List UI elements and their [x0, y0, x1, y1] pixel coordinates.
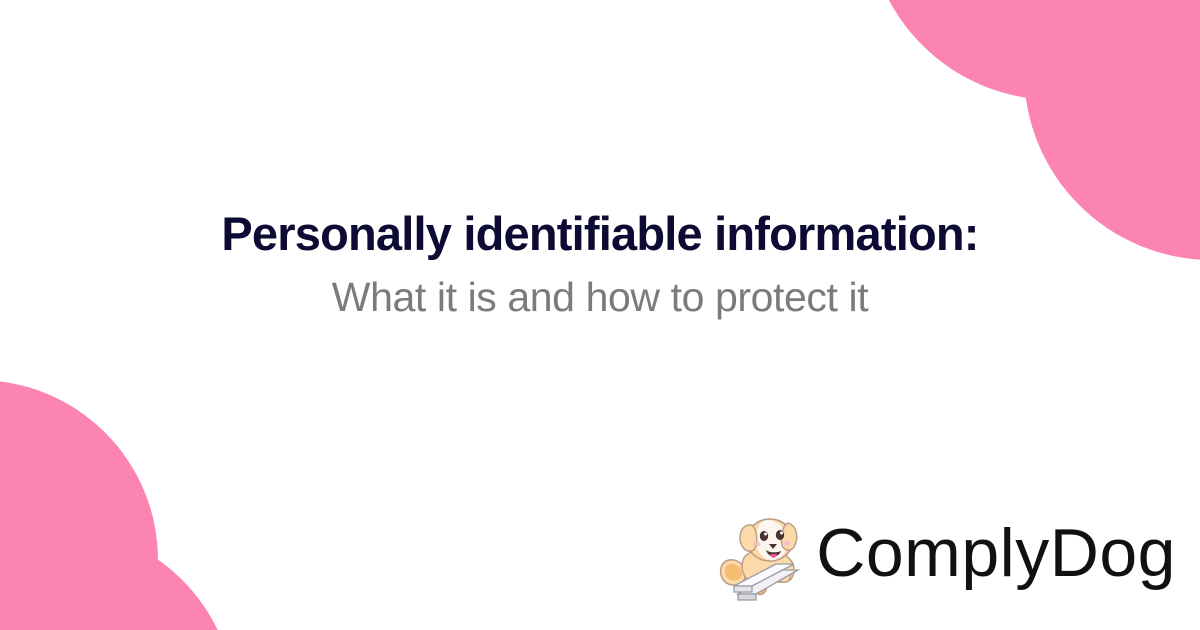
og-card: Personally identifiable information: Wha…: [0, 0, 1200, 630]
brand-wordmark: ComplyDog: [816, 519, 1176, 593]
dog-mascot-with-documents-icon: [714, 508, 810, 604]
brand-logo-lockup[interactable]: ComplyDog: [714, 508, 1176, 604]
page-title: Personally identifiable information:: [221, 206, 978, 261]
page-subtitle: What it is and how to protect it: [332, 273, 868, 322]
